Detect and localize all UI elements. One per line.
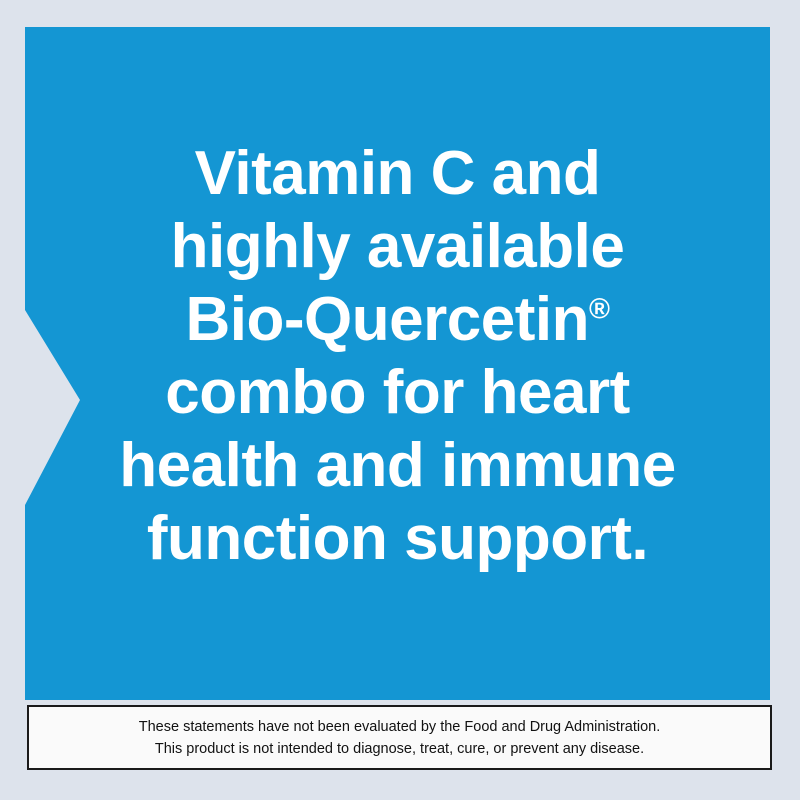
product-claim-graphic: Vitamin C and highly available Bio-Querc… — [0, 0, 800, 800]
fda-disclaimer-box: These statements have not been evaluated… — [27, 705, 772, 770]
disclaimer-line-2: This product is not intended to diagnose… — [155, 738, 644, 760]
hero-panel — [25, 27, 770, 700]
disclaimer-line-1: These statements have not been evaluated… — [139, 716, 661, 738]
